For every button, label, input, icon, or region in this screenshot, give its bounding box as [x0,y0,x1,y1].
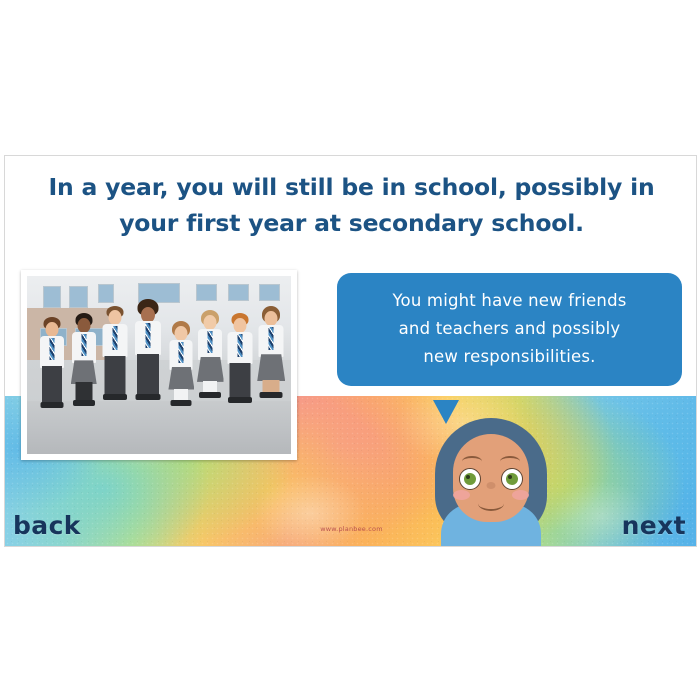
photo-pupil [133,299,165,441]
mouth [478,496,504,511]
title-line-1: In a year, you will still be in school, … [23,170,680,204]
photo-pupil [225,313,254,441]
photo-window [228,284,249,301]
photo-window [69,286,87,308]
photo-pupil [38,317,67,442]
photo-pupil [167,321,196,442]
photo-window [259,284,280,301]
photo-pupil [101,306,130,441]
photo-window [43,286,61,308]
bubble-line-3: new responsibilities. [353,343,666,371]
photo-window [98,284,114,302]
photo-pupil [257,306,286,441]
speech-bubble: You might have new friends and teachers … [337,273,682,386]
eye-right [501,468,523,490]
eyebrow-left [462,456,482,467]
iris-left [464,473,476,485]
page-title: In a year, you will still be in school, … [5,170,697,240]
nose [487,482,496,489]
blush-right [512,490,529,500]
title-line-2: your first year at secondary school. [23,206,680,240]
watermark: www.planbee.com [5,525,697,533]
bubble-line-1: You might have new friends [353,287,666,315]
school-photo-image [27,276,291,454]
school-photo [21,270,297,460]
eyebrow-right [500,456,520,467]
screenshot-canvas: In a year, you will still be in school, … [0,0,700,700]
photo-window [196,284,217,301]
iris-right [506,473,518,485]
presentation-slide: In a year, you will still be in school, … [4,155,697,547]
eye-left [459,468,481,490]
photo-pupil [69,313,98,441]
photo-pupil [196,310,225,442]
blush-left [453,490,470,500]
bubble-line-2: and teachers and possibly [353,315,666,343]
